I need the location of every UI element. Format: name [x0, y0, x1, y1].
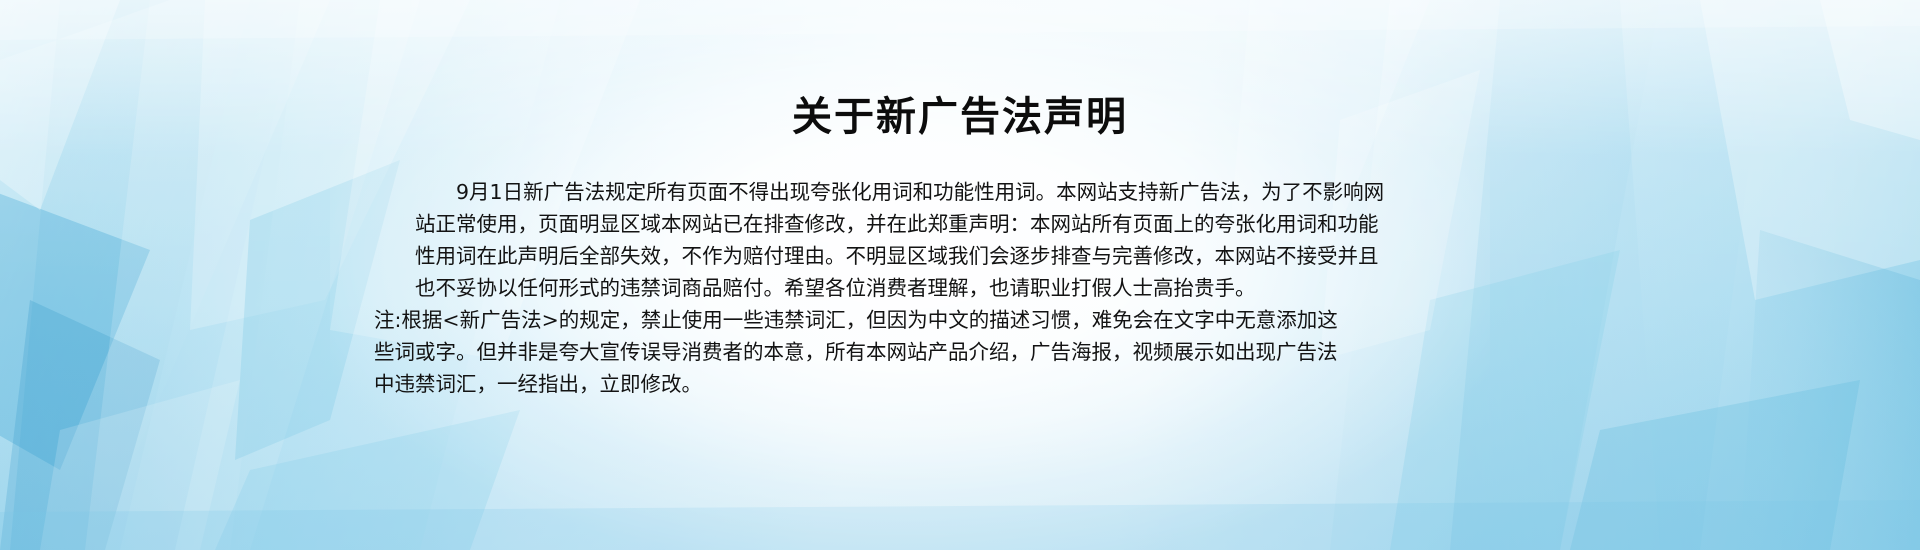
- page-title: 关于新广告法声明: [0, 84, 1920, 142]
- statement-body: 9月1日新广告法规定所有页面不得出现夸张化用词和功能性用词。本网站支持新广告法，…: [374, 176, 1174, 400]
- text-line: 中违禁词汇，一经指出，立即修改。: [374, 368, 1174, 400]
- text-line: 些词或字。但并非是夸大宣传误导消费者的本意，所有本网站产品介绍，广告海报，视频展…: [374, 336, 1174, 368]
- text-line: 也不妥协以任何形式的违禁词商品赔付。希望各位消费者理解，也请职业打假人士高抬贵手…: [374, 272, 1174, 304]
- banner-content: 关于新广告法声明 9月1日新广告法规定所有页面不得出现夸张化用词和功能性用词。本…: [0, 0, 1920, 550]
- advertising-law-statement-banner: 关于新广告法声明 9月1日新广告法规定所有页面不得出现夸张化用词和功能性用词。本…: [0, 0, 1920, 550]
- text-line: 9月1日新广告法规定所有页面不得出现夸张化用词和功能性用词。本网站支持新广告法，…: [415, 176, 1174, 208]
- paragraph-note: 注:根据<新广告法>的规定，禁止使用一些违禁词汇，但因为中文的描述习惯，难免会在…: [374, 304, 1174, 400]
- text-line: 性用词在此声明后全部失效，不作为赔付理由。不明显区域我们会逐步排查与完善修改，本…: [374, 240, 1174, 272]
- paragraph-statement: 9月1日新广告法规定所有页面不得出现夸张化用词和功能性用词。本网站支持新广告法，…: [374, 176, 1174, 304]
- text-line: 注:根据<新广告法>的规定，禁止使用一些违禁词汇，但因为中文的描述习惯，难免会在…: [374, 304, 1174, 336]
- text-line: 站正常使用，页面明显区域本网站已在排查修改，并在此郑重声明：本网站所有页面上的夸…: [374, 208, 1174, 240]
